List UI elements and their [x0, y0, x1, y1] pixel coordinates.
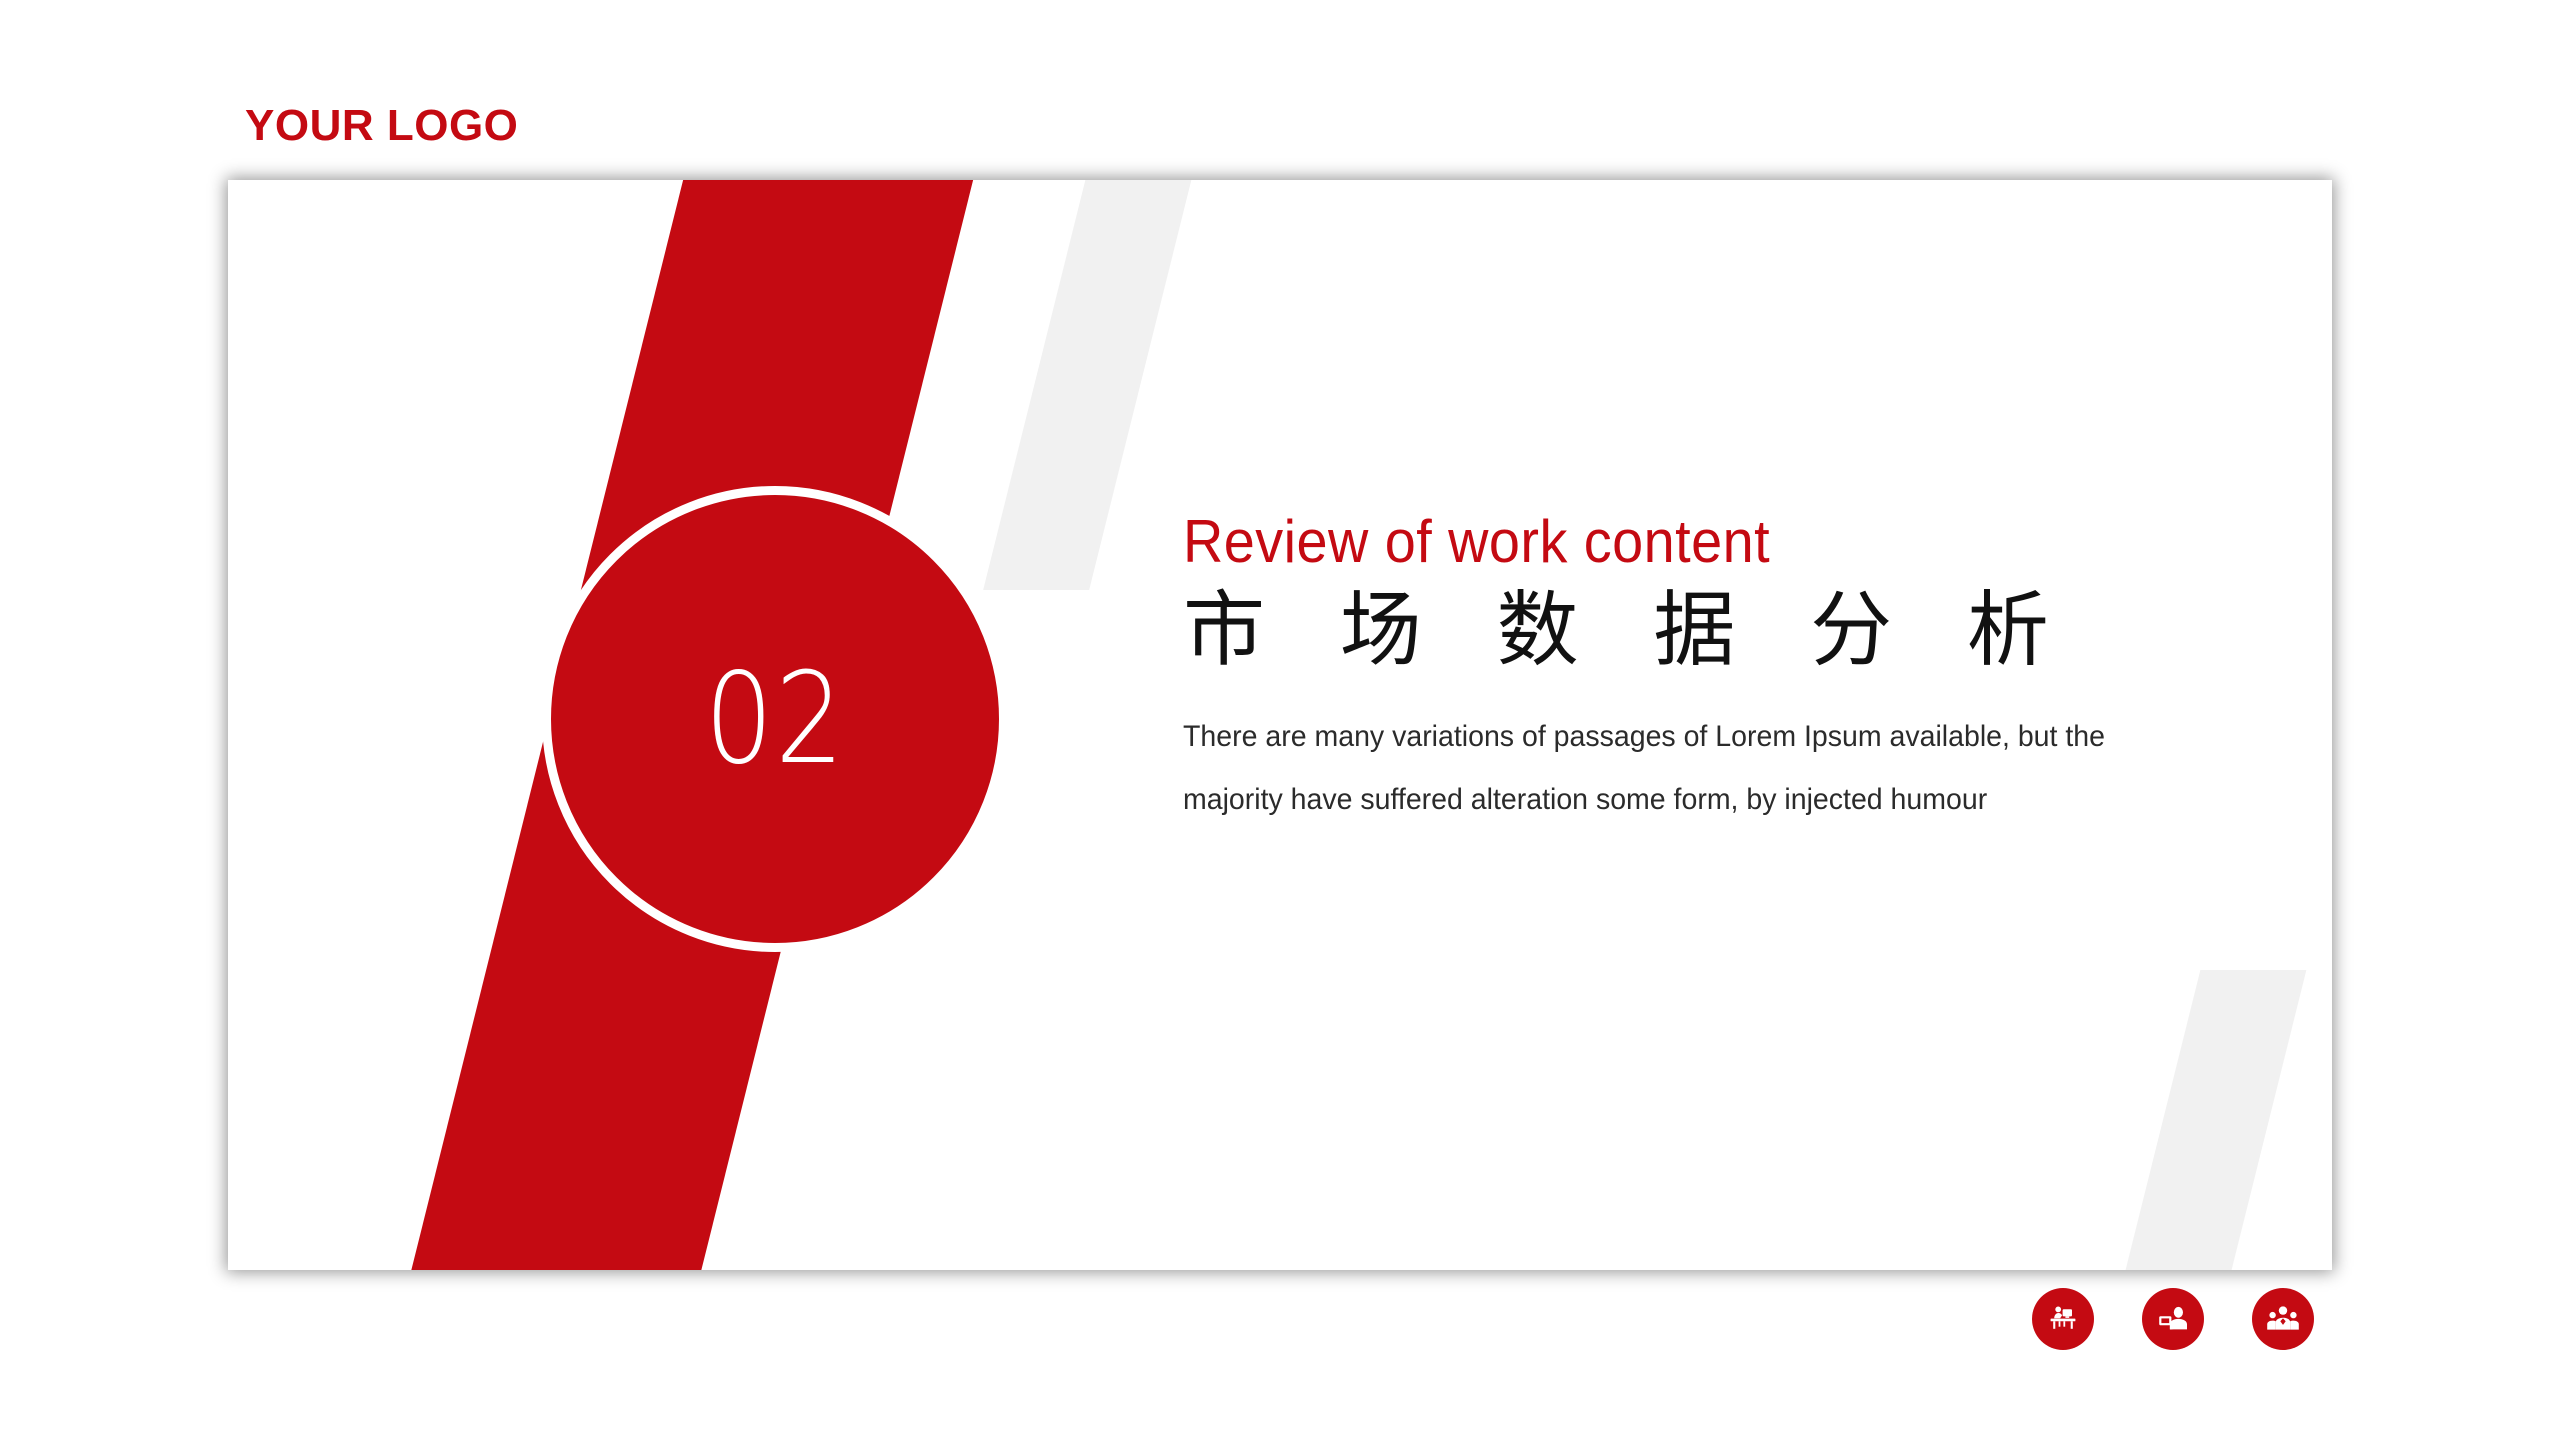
section-number-label: 02: [704, 656, 845, 782]
section-eyebrow: Review of work content: [1183, 510, 2187, 574]
section-number-circle: 02: [542, 486, 1008, 952]
page-title: YOUR LOGO: [245, 104, 518, 148]
people-group-icon[interactable]: [2252, 1288, 2314, 1350]
gray-diagonal-band-top: [983, 180, 1199, 590]
person-presenting-icon[interactable]: [2142, 1288, 2204, 1350]
section-number-badge: 02: [542, 486, 1008, 952]
section-text-block: Review of work content 市 场 数 据 分 析 There…: [1183, 510, 2263, 831]
footer-icon-bar: [2032, 1288, 2314, 1350]
person-at-desk-icon[interactable]: [2032, 1288, 2094, 1350]
section-paragraph: There are many variations of passages of…: [1183, 705, 2143, 831]
slide-canvas: 02 Review of work content 市 场 数 据 分 析 Th…: [228, 180, 2332, 1270]
section-headline: 市 场 数 据 分 析: [1183, 584, 2263, 677]
gray-diagonal-band-bottom: [2116, 970, 2307, 1270]
